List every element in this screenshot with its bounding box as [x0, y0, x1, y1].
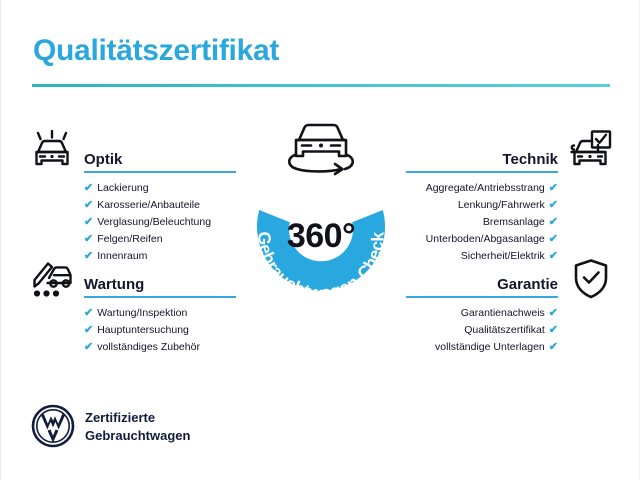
section-header-wartung: Wartung: [84, 268, 236, 298]
list-item: Garantienachweis✔: [406, 305, 558, 322]
list-item-label: Sicherheit/Elektrik: [461, 250, 545, 262]
certificate-page: Qualitätszertifikat: [0, 0, 640, 480]
check-icon: ✔: [84, 250, 93, 262]
shield-check-icon: [573, 258, 609, 300]
list-item-label: Bremsanlage: [483, 216, 545, 228]
section-divider: [406, 296, 558, 298]
section-divider: [84, 296, 236, 298]
section-divider: [84, 171, 236, 173]
section-header-technik: Technik: [406, 143, 558, 173]
list-item: ✔Lackierung: [84, 180, 236, 197]
check-icon: ✔: [549, 199, 558, 211]
list-item-label: vollständiges Zubehör: [97, 341, 200, 353]
check-icon: ✔: [84, 216, 93, 228]
list-item-label: Qualitätszertifikat: [464, 324, 545, 336]
section-garantie: Garantie Garantienachweis✔ Qualitätszert…: [406, 268, 558, 356]
vw-certified-text: Zertifizierte Gebrauchtwagen: [85, 409, 190, 444]
checklist-garantie: Garantienachweis✔ Qualitätszertifikat✔ v…: [406, 305, 558, 356]
section-header-garantie: Garantie: [406, 268, 558, 298]
check-icon: ✔: [549, 182, 558, 194]
list-item-label: Verglasung/Beleuchtung: [97, 216, 211, 228]
car-rotate-icon: [273, 117, 369, 179]
section-title: Optik: [84, 151, 122, 168]
car-shine-icon: [29, 130, 75, 172]
list-item: ✔Felgen/Reifen: [84, 231, 236, 248]
section-technik: Technik Aggregate/Antriebsstrang✔ Lenkun…: [406, 143, 558, 265]
section-title: Garantie: [497, 276, 558, 293]
check-icon: ✔: [549, 216, 558, 228]
list-item: Unterboden/Abgasanlage✔: [406, 231, 558, 248]
list-item-label: Lenkung/Fahrwerk: [458, 199, 545, 211]
list-item: ✔Verglasung/Beleuchtung: [84, 214, 236, 231]
list-item: Lenkung/Fahrwerk✔: [406, 197, 558, 214]
section-header-optik: Optik: [84, 143, 236, 173]
section-wartung: Wartung ✔Wartung/Inspektion ✔Hauptunters…: [84, 268, 236, 356]
check-icon: ✔: [549, 341, 558, 353]
check-icon: ✔: [84, 341, 93, 353]
check-icon: ✔: [84, 233, 93, 245]
list-item: ✔Wartung/Inspektion: [84, 305, 236, 322]
list-item: Sicherheit/Elektrik✔: [406, 248, 558, 265]
check-icon: ✔: [84, 324, 93, 336]
section-title: Technik: [502, 151, 558, 168]
car-lift-icon: [29, 258, 75, 300]
vw-text-line2: Gebrauchtwagen: [85, 427, 190, 445]
section-title: Wartung: [84, 276, 144, 293]
checklist-wartung: ✔Wartung/Inspektion ✔Hauptuntersuchung ✔…: [84, 305, 236, 356]
list-item-label: Wartung/Inspektion: [97, 307, 187, 319]
list-item-label: Felgen/Reifen: [97, 233, 162, 245]
list-item-label: Innenraum: [97, 250, 147, 262]
section-optik: Optik ✔Lackierung ✔Karosserie/Anbauteile…: [84, 143, 236, 265]
list-item-label: vollständige Unterlagen: [435, 341, 545, 353]
vw-text-line1: Zertifizierte: [85, 409, 190, 427]
list-item: Qualitätszertifikat✔: [406, 322, 558, 339]
list-item: ✔Karosserie/Anbauteile: [84, 197, 236, 214]
list-item-label: Karosserie/Anbauteile: [97, 199, 200, 211]
list-item-label: Lackierung: [97, 182, 148, 194]
list-item: Aggregate/Antriebsstrang✔: [406, 180, 558, 197]
list-item: ✔Innenraum: [84, 248, 236, 265]
list-item-label: Unterboden/Abgasanlage: [426, 233, 545, 245]
car-checkbox-icon: [567, 130, 613, 172]
check-icon: ✔: [84, 182, 93, 194]
list-item: Bremsanlage✔: [406, 214, 558, 231]
list-item-label: Hauptuntersuchung: [97, 324, 189, 336]
check-icon: ✔: [549, 250, 558, 262]
title-divider: [32, 84, 610, 87]
page-title: Qualitätszertifikat: [33, 34, 279, 68]
check-icon: ✔: [549, 233, 558, 245]
list-item-label: Garantienachweis: [461, 307, 545, 319]
check-icon: ✔: [84, 199, 93, 211]
list-item: ✔Hauptuntersuchung: [84, 322, 236, 339]
list-item: vollständige Unterlagen✔: [406, 339, 558, 356]
section-divider: [406, 171, 558, 173]
volkswagen-logo: [31, 404, 75, 448]
checklist-optik: ✔Lackierung ✔Karosserie/Anbauteile ✔Verg…: [84, 180, 236, 265]
check-icon: ✔: [549, 324, 558, 336]
checklist-technik: Aggregate/Antriebsstrang✔ Lenkung/Fahrwe…: [406, 180, 558, 265]
list-item-label: Aggregate/Antriebsstrang: [426, 182, 545, 194]
list-item: ✔vollständiges Zubehör: [84, 339, 236, 356]
check-icon: ✔: [549, 307, 558, 319]
check-icon: ✔: [84, 307, 93, 319]
